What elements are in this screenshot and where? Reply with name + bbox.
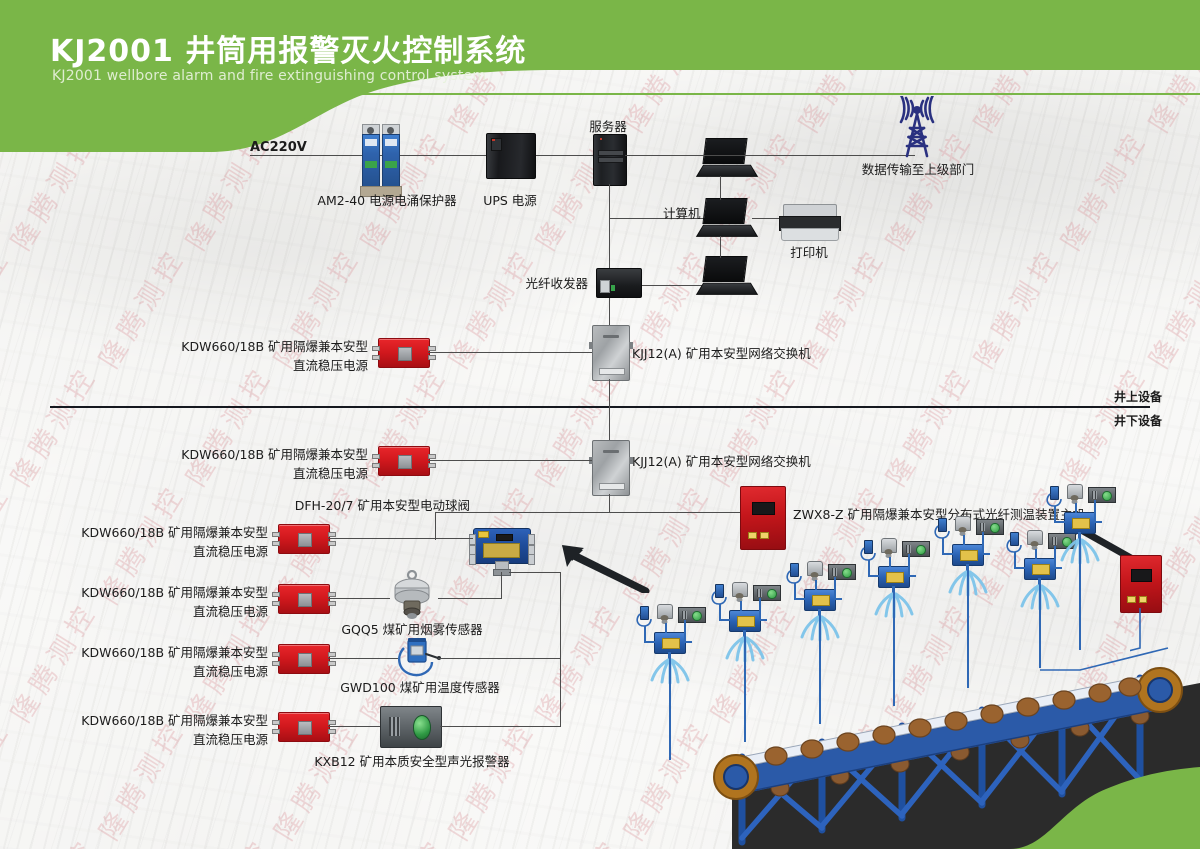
smoke-sensor-device <box>386 570 438 620</box>
ups-label: UPS 电源 <box>468 191 552 210</box>
above-ground-label: 井上设备 <box>1114 388 1162 407</box>
ug-power-supply-box-1 <box>378 446 430 476</box>
fiber-label: 光纤收发器 <box>476 274 588 293</box>
station-wire-alarm-h <box>759 598 761 620</box>
station-wire-alarm-h <box>1094 500 1096 522</box>
laptop3-screen <box>702 256 747 282</box>
switch-to-zwx-line <box>609 512 741 513</box>
surface-network-switch <box>592 325 630 381</box>
server-bay-1 <box>598 150 623 156</box>
station-wire-smoke <box>1075 503 1077 513</box>
laptop-to-printer-line <box>752 218 780 219</box>
power3-to-smoke-line <box>328 598 390 599</box>
station-wire-temp-h <box>868 575 879 577</box>
zwx-fiber-temperature-host <box>740 486 786 550</box>
station-wire-alarm <box>684 641 692 643</box>
diagram-page: 隆腾测控隆腾测控隆腾测控隆腾测控隆腾测控隆腾测控隆腾测控隆腾测控隆腾测控隆腾测控… <box>0 0 1200 849</box>
station-wire-temp <box>868 560 870 576</box>
station-control-box <box>654 632 686 654</box>
server-device <box>593 134 627 186</box>
surface-underground-divider <box>50 406 1150 408</box>
station-alarm-box <box>976 519 1004 535</box>
footer-green-wave <box>1010 763 1200 849</box>
computer-laptop-1 <box>700 138 752 176</box>
station-control-box <box>878 566 910 588</box>
station-feed-line <box>669 652 671 760</box>
station-wire-smoke <box>1035 549 1037 559</box>
station-feed-line <box>967 564 969 688</box>
valve-to-riser-line <box>509 572 561 573</box>
station-wire-temp-h <box>1014 567 1025 569</box>
spd-module-left <box>362 134 380 188</box>
fiber-status-led <box>611 285 615 291</box>
ug-power-supply-box-3 <box>278 584 330 614</box>
alarm-speaker-grill <box>389 717 400 735</box>
ug-power-supply-1-label-line2: 直流稳压电源 <box>168 464 368 483</box>
valve-stem-line <box>501 572 502 598</box>
antenna-label: 数据传输至上级部门 <box>852 160 984 179</box>
station-wire-smoke <box>889 557 891 567</box>
power4-to-temp-line <box>328 658 398 659</box>
station-wire-smoke <box>963 535 965 545</box>
underground-switch-label: KJJ12(A) 矿用本安型网络交换机 <box>632 452 811 471</box>
laptop-chain-1-2 <box>720 176 721 200</box>
fiber-rj45-port <box>600 280 611 293</box>
ug-power-supply-3-label-line2: 直流稳压电源 <box>68 602 268 621</box>
computer-laptop-2 <box>700 198 752 236</box>
station-wire-temp-h <box>1054 521 1065 523</box>
laptop2-screen <box>702 198 747 224</box>
zwx-button-right <box>760 532 769 540</box>
laptop-chain-2-3 <box>720 236 721 258</box>
station-wire-temp <box>1014 552 1016 568</box>
valve-drop-line <box>435 512 436 540</box>
valve-label: DFH-20/7 矿用本安型电动球阀 <box>270 496 470 515</box>
ups-power-led <box>492 139 495 141</box>
audible-visual-alarm-device <box>380 706 442 748</box>
valve-display <box>496 534 513 540</box>
server-label: 服务器 <box>572 117 644 136</box>
switch-nameplate <box>599 368 624 375</box>
computer-label: 计算机 <box>663 204 701 223</box>
surface-power-supply-label-line2: 直流稳压电源 <box>168 356 368 375</box>
smoke-bus-line <box>438 598 502 599</box>
surface-to-underground-trunk <box>609 379 610 442</box>
temperature-sensor-icon <box>394 634 442 678</box>
belt-host-button-left <box>1127 596 1135 603</box>
server-bay-2 <box>598 157 623 163</box>
station-alarm-box <box>753 585 781 601</box>
valve-nameplate <box>483 543 520 557</box>
data-uplink-antenna <box>885 96 949 158</box>
surface-power-to-switch-line <box>428 352 592 353</box>
spd-label: AM2-40 电源电涌保护器 <box>312 191 462 210</box>
alarm-bus-line <box>440 726 560 727</box>
ug-power-supply-box-4 <box>278 644 330 674</box>
zwx-display <box>752 502 774 515</box>
station-control-box <box>1064 512 1096 534</box>
switch-vent-slot-top <box>603 335 619 339</box>
surface-power-supply-label-line1: KDW660/18B 矿用隔爆兼本安型 <box>168 337 368 356</box>
station-wire-smoke <box>815 580 817 590</box>
station-wire-alarm-h <box>908 554 910 576</box>
ug-power-supply-5-label-line2: 直流稳压电源 <box>68 730 268 749</box>
station-wire-alarm <box>908 575 916 577</box>
ug-power-supply-2-label-line2: 直流稳压电源 <box>68 542 268 561</box>
valve-ma-mark <box>478 531 489 538</box>
station-feed-line <box>893 586 895 706</box>
station-wire-temp <box>794 583 796 599</box>
below-ground-label: 井下设备 <box>1114 412 1162 431</box>
smoke-sensor-icon <box>386 570 438 620</box>
printer-device <box>779 204 839 240</box>
spd-module-right <box>382 134 400 188</box>
laptop2-keyboard <box>696 225 758 237</box>
station-wire-temp <box>942 538 944 554</box>
station-wire-alarm <box>759 619 767 621</box>
station-wire-smoke <box>740 601 742 611</box>
page-title: KJ2001 井筒用报警灭火控制系统 <box>50 26 526 70</box>
ug-switch-vent-slot <box>603 450 619 454</box>
station-wire-temp <box>1054 506 1056 522</box>
laptop3-keyboard <box>696 283 758 295</box>
temperature-sensor-device <box>394 634 442 678</box>
power5-to-alarm-line <box>328 726 382 727</box>
station-feed-line <box>1079 532 1081 650</box>
ug-power-supply-2-label-line1: KDW660/18B 矿用隔爆兼本安型 <box>68 523 268 542</box>
laptop1-keyboard <box>696 165 758 177</box>
alarm-beacon-lamp <box>413 715 432 740</box>
temperature-sensor-label: GWD100 煤矿用温度传感器 <box>336 678 504 697</box>
printer-label: 打印机 <box>776 243 842 262</box>
ug-power1-to-switch-line <box>428 460 592 461</box>
surface-switch-label: KJJ12(A) 矿用本安型网络交换机 <box>632 344 811 363</box>
antenna-icon <box>885 96 949 158</box>
laptop1-screen <box>702 138 747 164</box>
belt-host-button-right <box>1139 596 1147 603</box>
belt-head-alarm-host <box>1120 555 1162 613</box>
station-wire-temp <box>644 626 646 642</box>
computer-laptop-3 <box>700 256 752 294</box>
station-wire-alarm <box>834 598 842 600</box>
station-wire-alarm-h <box>684 620 686 642</box>
page-subtitle: KJ2001 wellbore alarm and fire extinguis… <box>52 68 486 84</box>
printer-output-tray <box>781 228 839 241</box>
station-wire-temp-h <box>719 619 730 621</box>
station-wire-alarm <box>982 553 990 555</box>
ug-power-supply-box-2 <box>278 524 330 554</box>
ug-switch-nameplate <box>599 483 624 490</box>
station-wire-alarm-h <box>834 577 836 599</box>
power2-to-valve-line <box>328 538 473 539</box>
station-alarm-box <box>828 564 856 580</box>
station-wire-alarm <box>1094 521 1102 523</box>
station-control-box <box>729 610 761 632</box>
ac-input-label: AC220V <box>250 138 307 158</box>
station-alarm-box <box>902 541 930 557</box>
station-control-box <box>952 544 984 566</box>
ups-device <box>486 133 536 179</box>
station-wire-alarm-h <box>982 532 984 554</box>
station-control-box <box>804 589 836 611</box>
fiber-transceiver-device <box>596 268 642 298</box>
sensor-riser-line <box>560 572 561 727</box>
surface-power-supply-box <box>378 338 430 368</box>
station-alarm-box <box>1088 487 1116 503</box>
ug-switch-downtrunk <box>609 494 610 512</box>
temp-bus-line <box>438 658 560 659</box>
station-wire-smoke <box>665 623 667 633</box>
server-led <box>600 138 602 140</box>
ug-power-supply-3-label-line1: KDW660/18B 矿用隔爆兼本安型 <box>68 583 268 602</box>
header-rule <box>330 93 1200 95</box>
station-feed-line <box>819 609 821 724</box>
station-wire-temp-h <box>644 641 655 643</box>
surge-protector-device <box>360 124 400 196</box>
belt-host-display <box>1131 569 1151 581</box>
ug-power-supply-4-label-line2: 直流稳压电源 <box>68 662 268 681</box>
station-alarm-box <box>678 607 706 623</box>
ug-power-supply-4-label-line1: KDW660/18B 矿用隔爆兼本安型 <box>68 643 268 662</box>
station-feed-line <box>744 630 746 742</box>
station-wire-temp <box>719 604 721 620</box>
switch-port-left <box>589 342 593 349</box>
ug-power-supply-1-label-line1: KDW660/18B 矿用隔爆兼本安型 <box>168 445 368 464</box>
ug-power-supply-5-label-line1: KDW660/18B 矿用隔爆兼本安型 <box>68 711 268 730</box>
electric-ball-valve-device <box>473 528 531 564</box>
ug-power-supply-box-5 <box>278 712 330 742</box>
station-wire-temp-h <box>942 553 953 555</box>
alarm-label: KXB12 矿用本质安全型声光报警器 <box>312 752 512 771</box>
underground-network-switch <box>592 440 630 496</box>
antenna-link-line <box>680 155 915 156</box>
station-wire-temp-h <box>794 598 805 600</box>
belt-head-link-line <box>1040 640 1170 680</box>
zwx-button-left <box>748 532 757 540</box>
